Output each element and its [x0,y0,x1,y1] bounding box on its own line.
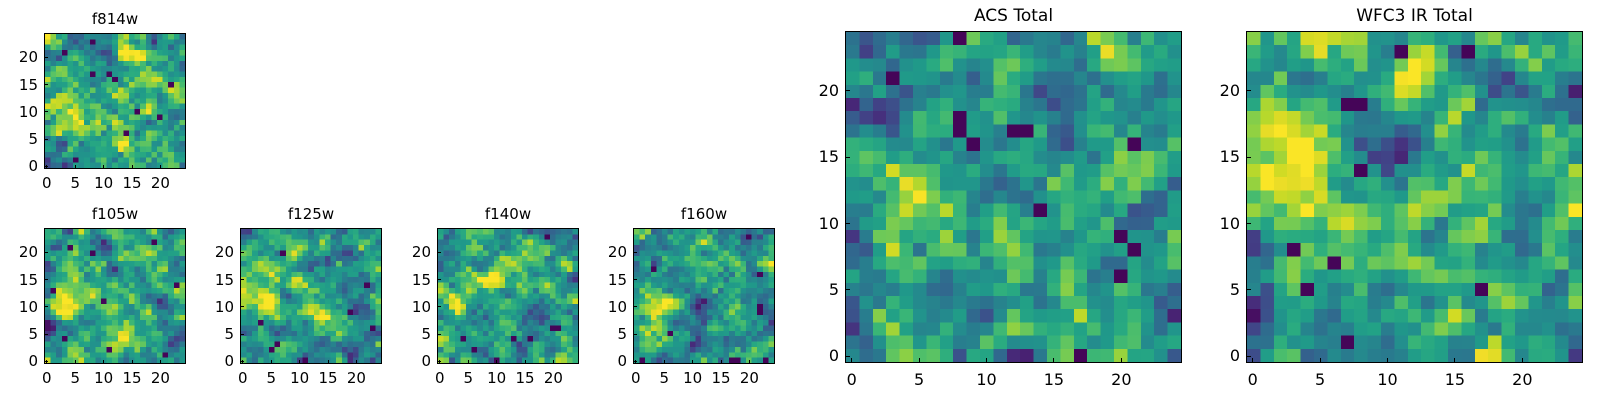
ytick-label-f140w-0: 0 [371,354,431,369]
heatmap-image-wfc3 [1247,32,1582,362]
xtick-mark-f160w-2 [692,360,693,364]
ytick-label-f125w-1: 5 [174,327,234,342]
panel-title-f814w: f814w [44,12,186,27]
ytick-label-f105w-0: 0 [0,354,38,369]
ytick-mark-f140w-4 [437,252,441,253]
ytick-mark-f125w-3 [240,279,244,280]
ytick-label-f125w-4: 20 [174,245,234,260]
ytick-mark-acs-0 [845,356,850,357]
heatmap-axes-wfc3[interactable] [1246,31,1583,363]
xtick-label-wfc3-1: 5 [1290,372,1350,388]
ytick-label-acs-0: 0 [779,348,839,364]
ytick-mark-f105w-1 [44,334,48,335]
ytick-mark-f125w-2 [240,306,244,307]
xtick-mark-f160w-3 [721,360,722,364]
heatmap-axes-acs[interactable] [845,31,1182,363]
xtick-mark-f125w-3 [328,360,329,364]
ytick-mark-f140w-0 [437,361,441,362]
xtick-mark-acs-4 [1121,358,1122,363]
ytick-mark-f105w-0 [44,361,48,362]
ytick-mark-wfc3-3 [1246,157,1251,158]
ytick-label-wfc3-2: 10 [1180,216,1240,232]
heatmap-axes-f160w[interactable] [633,228,775,364]
xtick-mark-f814w-1 [75,165,76,169]
ytick-label-f160w-2: 10 [567,300,627,315]
heatmap-image-f160w [634,229,774,363]
xtick-mark-f105w-4 [160,360,161,364]
xtick-label-wfc3-3: 15 [1425,372,1485,388]
ytick-mark-f814w-1 [44,139,48,140]
ytick-mark-f105w-3 [44,279,48,280]
ytick-label-f105w-3: 15 [0,273,38,288]
xtick-label-acs-0: 0 [822,372,882,388]
panel-title-f105w: f105w [44,207,186,222]
panel-title-f160w: f160w [633,207,775,222]
xtick-mark-f814w-4 [160,165,161,169]
ytick-mark-f160w-3 [633,279,637,280]
xtick-mark-f160w-1 [664,360,665,364]
ytick-label-f160w-1: 5 [567,327,627,342]
xtick-label-acs-2: 10 [957,372,1017,388]
xtick-mark-wfc3-3 [1454,358,1455,363]
xtick-mark-acs-2 [986,358,987,363]
ytick-mark-f814w-0 [44,166,48,167]
ytick-label-f814w-4: 20 [0,50,38,65]
ytick-label-acs-4: 20 [779,83,839,99]
heatmap-axes-f140w[interactable] [437,228,579,364]
ytick-label-f814w-0: 0 [0,159,38,174]
ytick-label-acs-3: 15 [779,149,839,165]
ytick-label-f125w-3: 15 [174,273,234,288]
heatmap-axes-f814w[interactable] [44,33,186,169]
ytick-mark-f125w-1 [240,334,244,335]
xtick-label-wfc3-4: 20 [1492,372,1552,388]
panel-title-f140w: f140w [437,207,579,222]
ytick-label-f160w-3: 15 [567,273,627,288]
ytick-mark-f105w-4 [44,252,48,253]
ytick-label-f160w-0: 0 [567,354,627,369]
xtick-mark-wfc3-0 [1252,358,1253,363]
xtick-mark-wfc3-4 [1522,358,1523,363]
xtick-mark-f105w-3 [132,360,133,364]
ytick-label-wfc3-4: 20 [1180,83,1240,99]
ytick-mark-acs-1 [845,289,850,290]
ytick-mark-f160w-2 [633,306,637,307]
xtick-mark-acs-1 [919,358,920,363]
xtick-mark-wfc3-1 [1320,358,1321,363]
ytick-label-wfc3-0: 0 [1180,348,1240,364]
ytick-label-f814w-3: 15 [0,78,38,93]
xtick-label-wfc3-0: 0 [1223,372,1283,388]
heatmap-image-acs [846,32,1181,362]
ytick-mark-f140w-2 [437,306,441,307]
ytick-label-f140w-3: 15 [371,273,431,288]
xtick-mark-acs-3 [1053,358,1054,363]
panel-title-acs: ACS Total [845,8,1182,25]
ytick-mark-wfc3-4 [1246,90,1251,91]
ytick-label-f814w-2: 10 [0,105,38,120]
xtick-mark-f140w-4 [553,360,554,364]
ytick-mark-wfc3-0 [1246,356,1251,357]
xtick-mark-acs-0 [851,358,852,363]
xtick-mark-f814w-3 [132,165,133,169]
xtick-label-acs-3: 15 [1024,372,1084,388]
ytick-mark-f125w-0 [240,361,244,362]
heatmap-image-f105w [45,229,185,363]
xtick-label-f140w-4: 20 [523,371,583,386]
ytick-label-f125w-2: 10 [174,300,234,315]
ytick-mark-f125w-4 [240,252,244,253]
xtick-mark-f814w-2 [103,165,104,169]
panel-title-f125w: f125w [240,207,382,222]
ytick-mark-f140w-1 [437,334,441,335]
xtick-mark-f160w-4 [749,360,750,364]
ytick-mark-acs-3 [845,157,850,158]
heatmap-axes-f105w[interactable] [44,228,186,364]
ytick-label-f105w-1: 5 [0,327,38,342]
ytick-mark-f814w-4 [44,57,48,58]
xtick-mark-f140w-2 [496,360,497,364]
ytick-mark-f160w-0 [633,361,637,362]
xtick-mark-f125w-1 [271,360,272,364]
ytick-label-f105w-2: 10 [0,300,38,315]
heatmap-axes-f125w[interactable] [240,228,382,364]
xtick-label-f814w-4: 20 [130,176,190,191]
xtick-mark-f105w-1 [75,360,76,364]
ytick-mark-f814w-2 [44,111,48,112]
ytick-label-f160w-4: 20 [567,245,627,260]
heatmap-image-f125w [241,229,381,363]
xtick-mark-wfc3-2 [1387,358,1388,363]
ytick-mark-f160w-1 [633,334,637,335]
ytick-label-acs-1: 5 [779,282,839,298]
ytick-label-wfc3-1: 5 [1180,282,1240,298]
ytick-label-f140w-2: 10 [371,300,431,315]
ytick-label-f140w-1: 5 [371,327,431,342]
xtick-label-acs-4: 20 [1091,372,1151,388]
xtick-mark-f140w-1 [468,360,469,364]
xtick-label-f105w-4: 20 [130,371,190,386]
ytick-label-f125w-0: 0 [174,354,234,369]
xtick-mark-f140w-3 [525,360,526,364]
panel-title-wfc3: WFC3 IR Total [1246,8,1583,25]
ytick-mark-wfc3-2 [1246,223,1251,224]
xtick-mark-f105w-2 [103,360,104,364]
heatmap-image-f140w [438,229,578,363]
ytick-mark-wfc3-1 [1246,289,1251,290]
ytick-mark-f105w-2 [44,306,48,307]
xtick-label-f125w-4: 20 [326,371,386,386]
ytick-mark-f140w-3 [437,279,441,280]
ytick-label-f140w-4: 20 [371,245,431,260]
ytick-label-wfc3-3: 15 [1180,149,1240,165]
ytick-mark-f814w-3 [44,84,48,85]
xtick-mark-f125w-2 [299,360,300,364]
ytick-label-f814w-1: 5 [0,132,38,147]
xtick-label-wfc3-2: 10 [1358,372,1418,388]
xtick-mark-f125w-4 [356,360,357,364]
ytick-mark-f160w-4 [633,252,637,253]
ytick-label-acs-2: 10 [779,216,839,232]
ytick-mark-acs-4 [845,90,850,91]
xtick-label-f160w-4: 20 [719,371,779,386]
xtick-label-acs-1: 5 [889,372,949,388]
ytick-mark-acs-2 [845,223,850,224]
ytick-label-f105w-4: 20 [0,245,38,260]
heatmap-image-f814w [45,34,185,168]
